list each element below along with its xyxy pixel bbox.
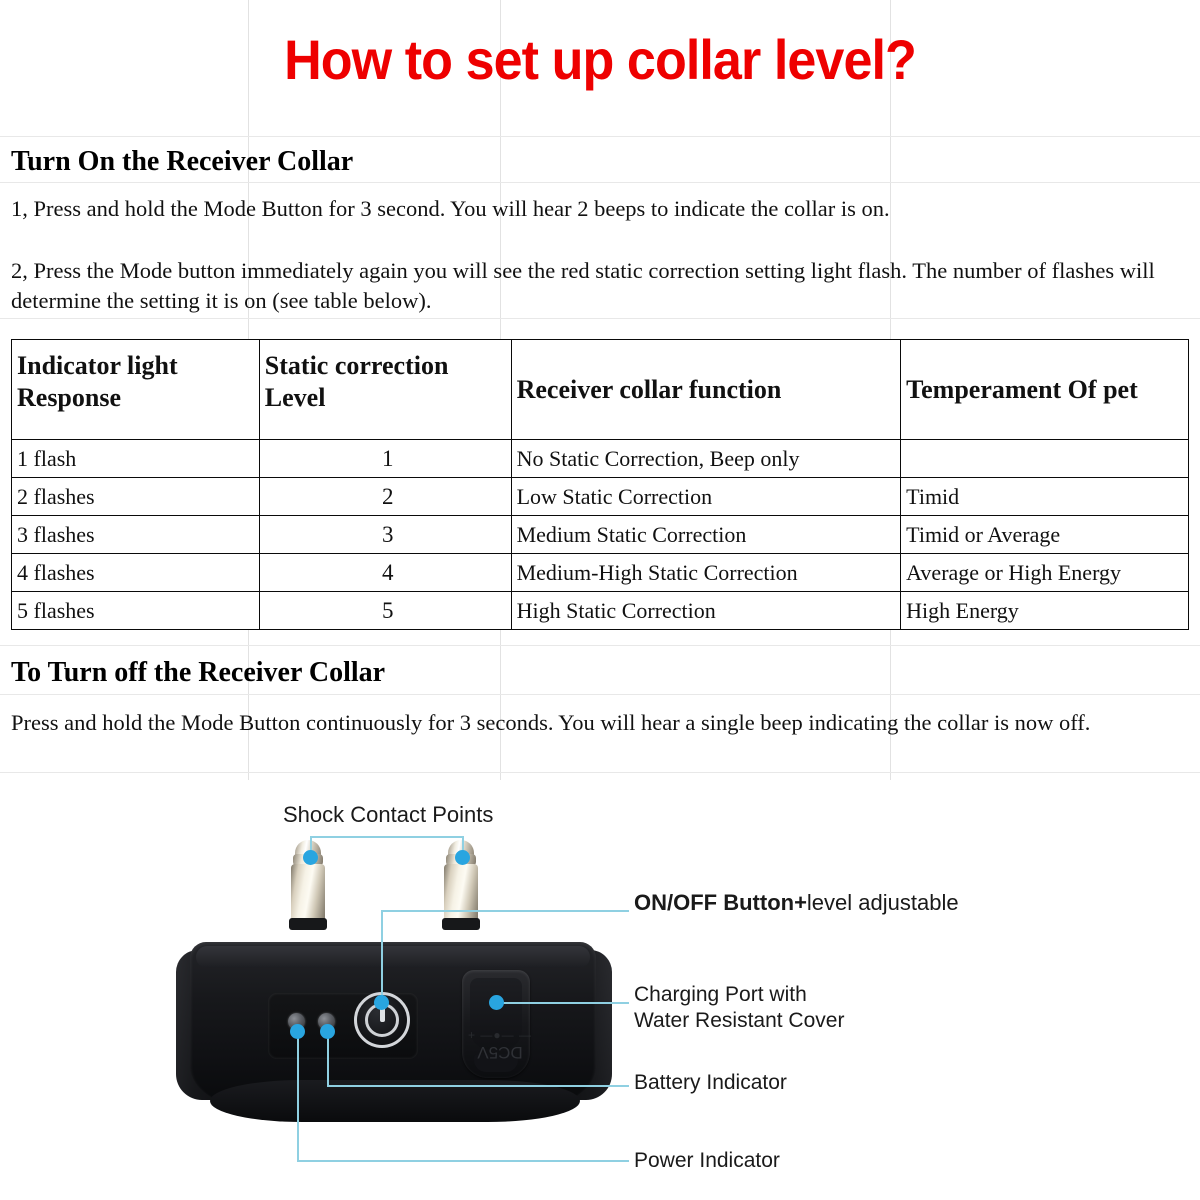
table-row: 1 flash 1 No Static Correction, Beep onl…	[12, 440, 1189, 478]
cell-level: 3	[259, 516, 511, 554]
gridline-horizontal	[0, 772, 1200, 773]
leader-line-shock-bracket	[310, 836, 464, 838]
column-header-temperament: Temperament Of pet	[901, 340, 1189, 440]
label-shock-contact-points: Shock Contact Points	[283, 802, 493, 828]
section-heading-turn-off: To Turn off the Receiver Collar	[11, 657, 385, 689]
leader-line-onoff-horizontal	[381, 910, 629, 912]
cell-level: 2	[259, 478, 511, 516]
column-header-static-level: Static correction Level	[259, 340, 511, 440]
label-charging-port: Charging Port with Water Resistant Cover	[634, 982, 844, 1034]
collar-body-top-lip	[196, 946, 590, 968]
cell-temperament: Timid or Average	[901, 516, 1189, 554]
cell-function: Low Static Correction	[511, 478, 901, 516]
gridline-horizontal	[0, 182, 1200, 183]
section-heading-turn-on: Turn On the Receiver Collar	[11, 146, 353, 178]
table-row: 4 flashes 4 Medium-High Static Correctio…	[12, 554, 1189, 592]
callout-dot-battery-indicator	[320, 1024, 335, 1039]
callout-dot-shock-right	[455, 850, 470, 865]
cell-function: No Static Correction, Beep only	[511, 440, 901, 478]
cell-function: Medium-High Static Correction	[511, 554, 901, 592]
dc-polarity-symbol: + —●— —	[455, 1028, 545, 1042]
cell-indicator: 3 flashes	[12, 516, 260, 554]
cell-temperament: Timid	[901, 478, 1189, 516]
column-header-indicator-light: Indicator light Response	[12, 340, 260, 440]
cell-indicator: 1 flash	[12, 440, 260, 478]
product-diagram: + —●— — DC5V Shock Contact Points ON/OFF…	[0, 780, 1200, 1200]
cell-level: 1	[259, 440, 511, 478]
turn-off-instruction: Press and hold the Mode Button continuou…	[11, 708, 1183, 738]
cell-temperament: Average or High Energy	[901, 554, 1189, 592]
cell-level: 4	[259, 554, 511, 592]
label-charging-port-line2: Water Resistant Cover	[634, 1008, 844, 1034]
instruction-step-2: 2, Press the Mode button immediately aga…	[11, 256, 1175, 316]
callout-dot-power-indicator	[290, 1024, 305, 1039]
page-title: How to set up collar level?	[42, 28, 1158, 92]
cell-indicator: 5 flashes	[12, 592, 260, 630]
instruction-step-1: 1, Press and hold the Mode Button for 3 …	[11, 194, 1191, 224]
table-header-row: Indicator light Response Static correcti…	[12, 340, 1189, 440]
cell-function: Medium Static Correction	[511, 516, 901, 554]
column-header-collar-function: Receiver collar function	[511, 340, 901, 440]
label-onoff-button: ON/OFF Button+level adjustable	[634, 890, 959, 916]
label-battery-indicator: Battery Indicator	[634, 1070, 787, 1096]
label-power-indicator: Power Indicator	[634, 1148, 780, 1174]
collar-device-illustration: + —●— — DC5V	[0, 780, 1200, 1200]
dc-voltage-label: DC5V	[455, 1042, 545, 1062]
table-row: 3 flashes 3 Medium Static Correction Tim…	[12, 516, 1189, 554]
cell-temperament	[901, 440, 1189, 478]
cell-indicator: 2 flashes	[12, 478, 260, 516]
cell-function: High Static Correction	[511, 592, 901, 630]
leader-line-power-vertical	[297, 1028, 299, 1160]
gridline-horizontal	[0, 318, 1200, 319]
cell-temperament: High Energy	[901, 592, 1189, 630]
leader-line-battery-horizontal	[327, 1085, 629, 1087]
leader-line-onoff-vertical	[381, 910, 383, 1002]
label-onoff-button-text: ON/OFF Button+	[634, 890, 807, 915]
label-charging-port-line1: Charging Port with	[634, 982, 844, 1008]
gridline-horizontal	[0, 645, 1200, 646]
cell-level: 5	[259, 592, 511, 630]
callout-dot-power-button	[374, 995, 389, 1010]
leader-line-power-horizontal	[297, 1160, 629, 1162]
collar-level-table: Indicator light Response Static correcti…	[11, 339, 1189, 630]
label-level-adjustable-text: level adjustable	[807, 890, 959, 915]
gridline-horizontal	[0, 136, 1200, 137]
leader-line-charging-port	[496, 1002, 629, 1004]
table-row: 5 flashes 5 High Static Correction High …	[12, 592, 1189, 630]
callout-dot-charging-port	[489, 995, 504, 1010]
gridline-horizontal	[0, 694, 1200, 695]
cell-indicator: 4 flashes	[12, 554, 260, 592]
page-root: How to set up collar level? Turn On the …	[0, 0, 1200, 1200]
table-row: 2 flashes 2 Low Static Correction Timid	[12, 478, 1189, 516]
callout-dot-shock-left	[303, 850, 318, 865]
